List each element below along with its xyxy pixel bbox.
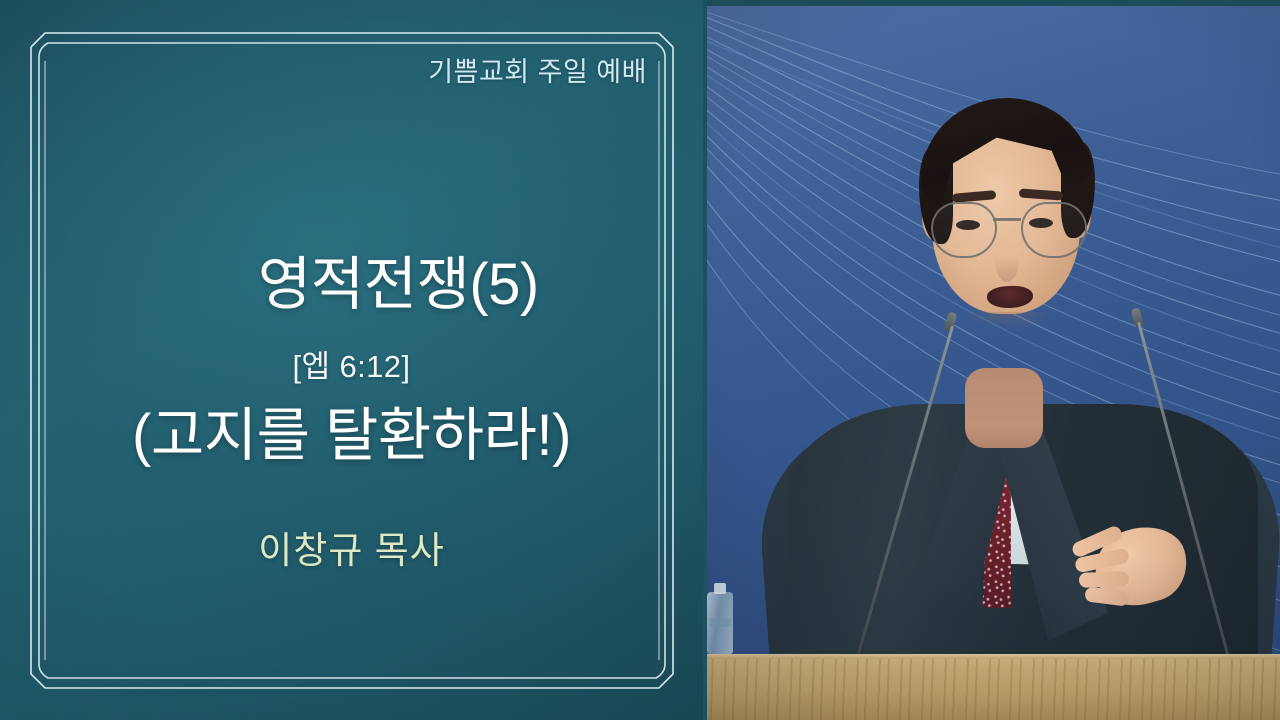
finger-ring — [1079, 571, 1129, 588]
video-left-border — [703, 0, 707, 720]
sermon-title-line-2: (고지를 탈환하라!) — [0, 398, 703, 473]
eyeglass-lens-left — [931, 202, 997, 258]
video-panel — [703, 0, 1280, 720]
eyeglass-bridge — [993, 218, 1021, 221]
scripture-reference: [엡 6:12] — [0, 341, 703, 386]
neck — [965, 368, 1043, 448]
chin-shadow — [965, 312, 1049, 328]
video-frame — [703, 6, 1280, 720]
podium-edge — [703, 654, 1280, 659]
eyeglass-lens-right — [1021, 202, 1087, 258]
water-bottle — [707, 592, 733, 654]
sermon-title-line-1: 영적전쟁(5) — [258, 252, 539, 317]
service-name-label: 기쁨교회 주일 예배 — [428, 50, 647, 89]
speaker-figure — [703, 6, 1280, 720]
nose — [995, 238, 1019, 282]
title-panel: 기쁨교회 주일 예배 영적전쟁(5) (고지를 탈환하라!) [엡 6:12] … — [0, 0, 703, 720]
speaker-name: 이창규 목사 — [0, 520, 703, 574]
slide-stage: 기쁨교회 주일 예배 영적전쟁(5) (고지를 탈환하라!) [엡 6:12] … — [0, 0, 1280, 720]
podium — [703, 654, 1280, 720]
